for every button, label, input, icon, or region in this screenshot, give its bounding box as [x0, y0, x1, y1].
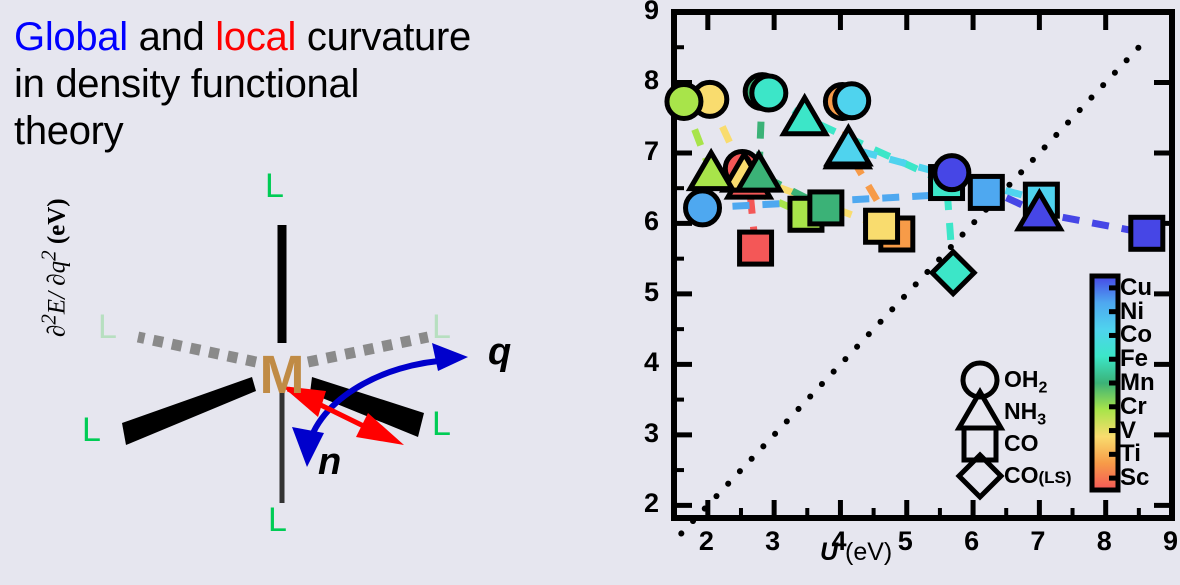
- series-line-Mn: [759, 92, 826, 208]
- data-point-Sc-square: [740, 232, 772, 264]
- series-line-V: [710, 99, 882, 226]
- colorbar: [1092, 276, 1118, 490]
- x-tick-label: 7: [1030, 526, 1045, 557]
- title-text-curvature: curvature: [296, 15, 471, 59]
- data-point-V-circle: [693, 82, 727, 116]
- y-tick-label: 9: [644, 0, 659, 26]
- data-point-Cu-square: [1131, 217, 1163, 249]
- x-tick-label: 8: [1097, 526, 1112, 557]
- bond-dashed-left: [138, 337, 256, 362]
- colorbar-label-V: V: [1120, 419, 1136, 443]
- y-tick-label: 4: [644, 347, 659, 378]
- y-tick-label: 5: [644, 277, 659, 308]
- page-title: Global and local curvature in density fu…: [14, 14, 624, 155]
- data-point-Cu-triangle: [1018, 193, 1060, 229]
- colorbar-label-Ni: Ni: [1120, 300, 1144, 324]
- y-tick-label: 3: [644, 418, 659, 449]
- data-point-Co-triangle: [827, 128, 869, 164]
- colorbar-label-Fe: Fe: [1120, 347, 1148, 371]
- bond-wedge-left: [122, 377, 256, 445]
- series-line-Ni: [703, 192, 987, 208]
- y-tick-label: 2: [644, 488, 659, 519]
- ligand-top: L: [265, 169, 284, 203]
- x-tick-label: 2: [699, 526, 714, 557]
- legend-label-triangle: NH3: [1004, 398, 1046, 430]
- x-axis-label: U (eV): [820, 538, 892, 567]
- title-line-2: in density functional: [14, 62, 359, 106]
- y-tick-label: 8: [644, 65, 659, 96]
- legend-marker-square: [964, 428, 996, 460]
- x-tick-label: 5: [898, 526, 913, 557]
- molecule-diagram: M L L L L L L q n: [60, 155, 620, 565]
- data-point-Co-circle: [835, 84, 869, 118]
- data-point-Cu-circle: [935, 156, 969, 190]
- data-point-Sc-circle: [725, 151, 759, 185]
- data-point-Ti-square: [881, 218, 913, 250]
- ligand-left-front: L: [82, 413, 101, 447]
- data-point-Fe-triangle: [784, 98, 826, 134]
- y-tick-label: 6: [644, 206, 659, 237]
- series-line-Co: [848, 101, 1041, 200]
- series-line-Cu: [952, 173, 1147, 234]
- colorbar-label-Sc: Sc: [1120, 466, 1149, 490]
- title-word-local: local: [215, 15, 296, 59]
- data-point-Ni-circle: [686, 191, 720, 225]
- y-tick-label: 7: [644, 136, 659, 167]
- molecule-svg: M: [60, 155, 620, 565]
- arrow-q-head-end: [432, 343, 468, 371]
- q-label: q: [488, 333, 511, 371]
- ligand-left-back: L: [98, 310, 117, 344]
- series-line-Sc: [742, 168, 755, 248]
- data-point-V-square: [866, 210, 898, 242]
- data-point-V-triangle: [723, 154, 765, 190]
- series-line-Fe: [769, 93, 953, 273]
- data-point-Fe-circle: [752, 76, 786, 110]
- ligand-bottom: L: [268, 503, 287, 537]
- title-text-and: and: [128, 15, 215, 59]
- legend-marker-circle: [963, 363, 997, 397]
- colorbar-label-Mn: Mn: [1120, 371, 1155, 395]
- molecule-center-label: M: [260, 345, 305, 405]
- x-tick-label: 4: [831, 526, 846, 557]
- x-tick-label: 6: [964, 526, 979, 557]
- bond-dashed-right: [308, 337, 428, 362]
- colorbar-label-Ti: Ti: [1120, 442, 1141, 466]
- title-word-global: Global: [14, 15, 128, 59]
- colorbar-label-Cu: Cu: [1120, 276, 1152, 300]
- data-point-Fe-diamond: [932, 252, 974, 294]
- n-label: n: [318, 443, 341, 481]
- reference-diagonal-line: [681, 40, 1145, 533]
- data-point-Sc-triangle: [728, 161, 770, 197]
- data-point-Mn-triangle: [738, 154, 780, 190]
- legend-label-circle: OH2: [1004, 366, 1047, 398]
- data-point-Ti-circle: [825, 85, 859, 119]
- data-point-Mn-circle: [745, 75, 779, 109]
- legend-marker-triangle: [959, 392, 1001, 428]
- plot-frame: [674, 12, 1172, 518]
- colorbar-label-Cr: Cr: [1120, 395, 1147, 419]
- data-point-Cr-circle: [667, 85, 701, 119]
- legend-label-square: CO: [1004, 430, 1039, 457]
- title-line-3: theory: [14, 109, 123, 153]
- data-point-Fe-square: [931, 167, 963, 199]
- colorbar-label-Co: Co: [1120, 323, 1152, 347]
- x-tick-label: 3: [765, 526, 780, 557]
- ligand-right-back: L: [432, 310, 451, 344]
- series-line-Ti: [842, 102, 896, 234]
- legend-label-diamond: CO(LS): [1004, 462, 1072, 489]
- data-point-Ni-square: [970, 176, 1002, 208]
- x-tick-label: 9: [1163, 526, 1178, 557]
- data-point-Cr-triangle: [690, 153, 732, 189]
- series-line-Cr: [684, 102, 806, 215]
- ligand-right-front: L: [432, 407, 451, 441]
- data-point-Ti-triangle: [827, 131, 869, 167]
- data-point-Cr-square: [790, 198, 822, 230]
- data-point-Co-square: [1025, 184, 1057, 216]
- data-point-Mn-square: [810, 192, 842, 224]
- legend-marker-diamond: [959, 455, 1001, 497]
